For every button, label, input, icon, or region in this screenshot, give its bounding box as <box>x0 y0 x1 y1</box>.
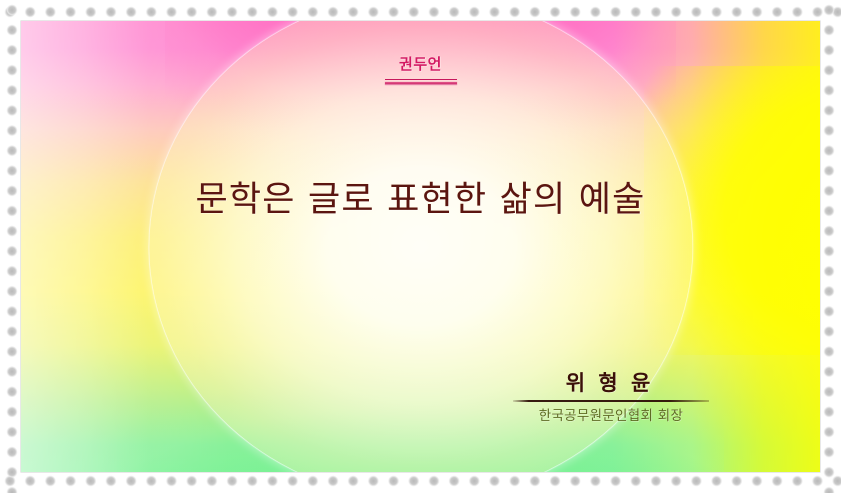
author-block: 위 형 윤 한국공무원문인협회 회장 <box>513 371 709 424</box>
author-name: 위 형 윤 <box>513 371 709 395</box>
author-divider <box>513 400 709 402</box>
stamp-artwork-face: 권두언 문학은 글로 표현한 삶의 예술 위 형 윤 한국공무원문인협회 회장 <box>21 21 820 472</box>
section-label-rule-thick <box>385 82 457 85</box>
section-label-rule-thin <box>385 79 457 80</box>
author-role: 한국공무원문인협회 회장 <box>513 408 709 424</box>
stamp-page: 권두언 문학은 글로 표현한 삶의 예술 위 형 윤 한국공무원문인협회 회장 <box>0 0 841 493</box>
section-label-container: 권두언 <box>21 56 820 85</box>
section-label: 권두언 <box>399 57 442 76</box>
cover-content: 권두언 문학은 글로 표현한 삶의 예술 위 형 윤 한국공무원문인협회 회장 <box>21 21 820 472</box>
page-title: 문학은 글로 표현한 삶의 예술 <box>21 171 820 222</box>
